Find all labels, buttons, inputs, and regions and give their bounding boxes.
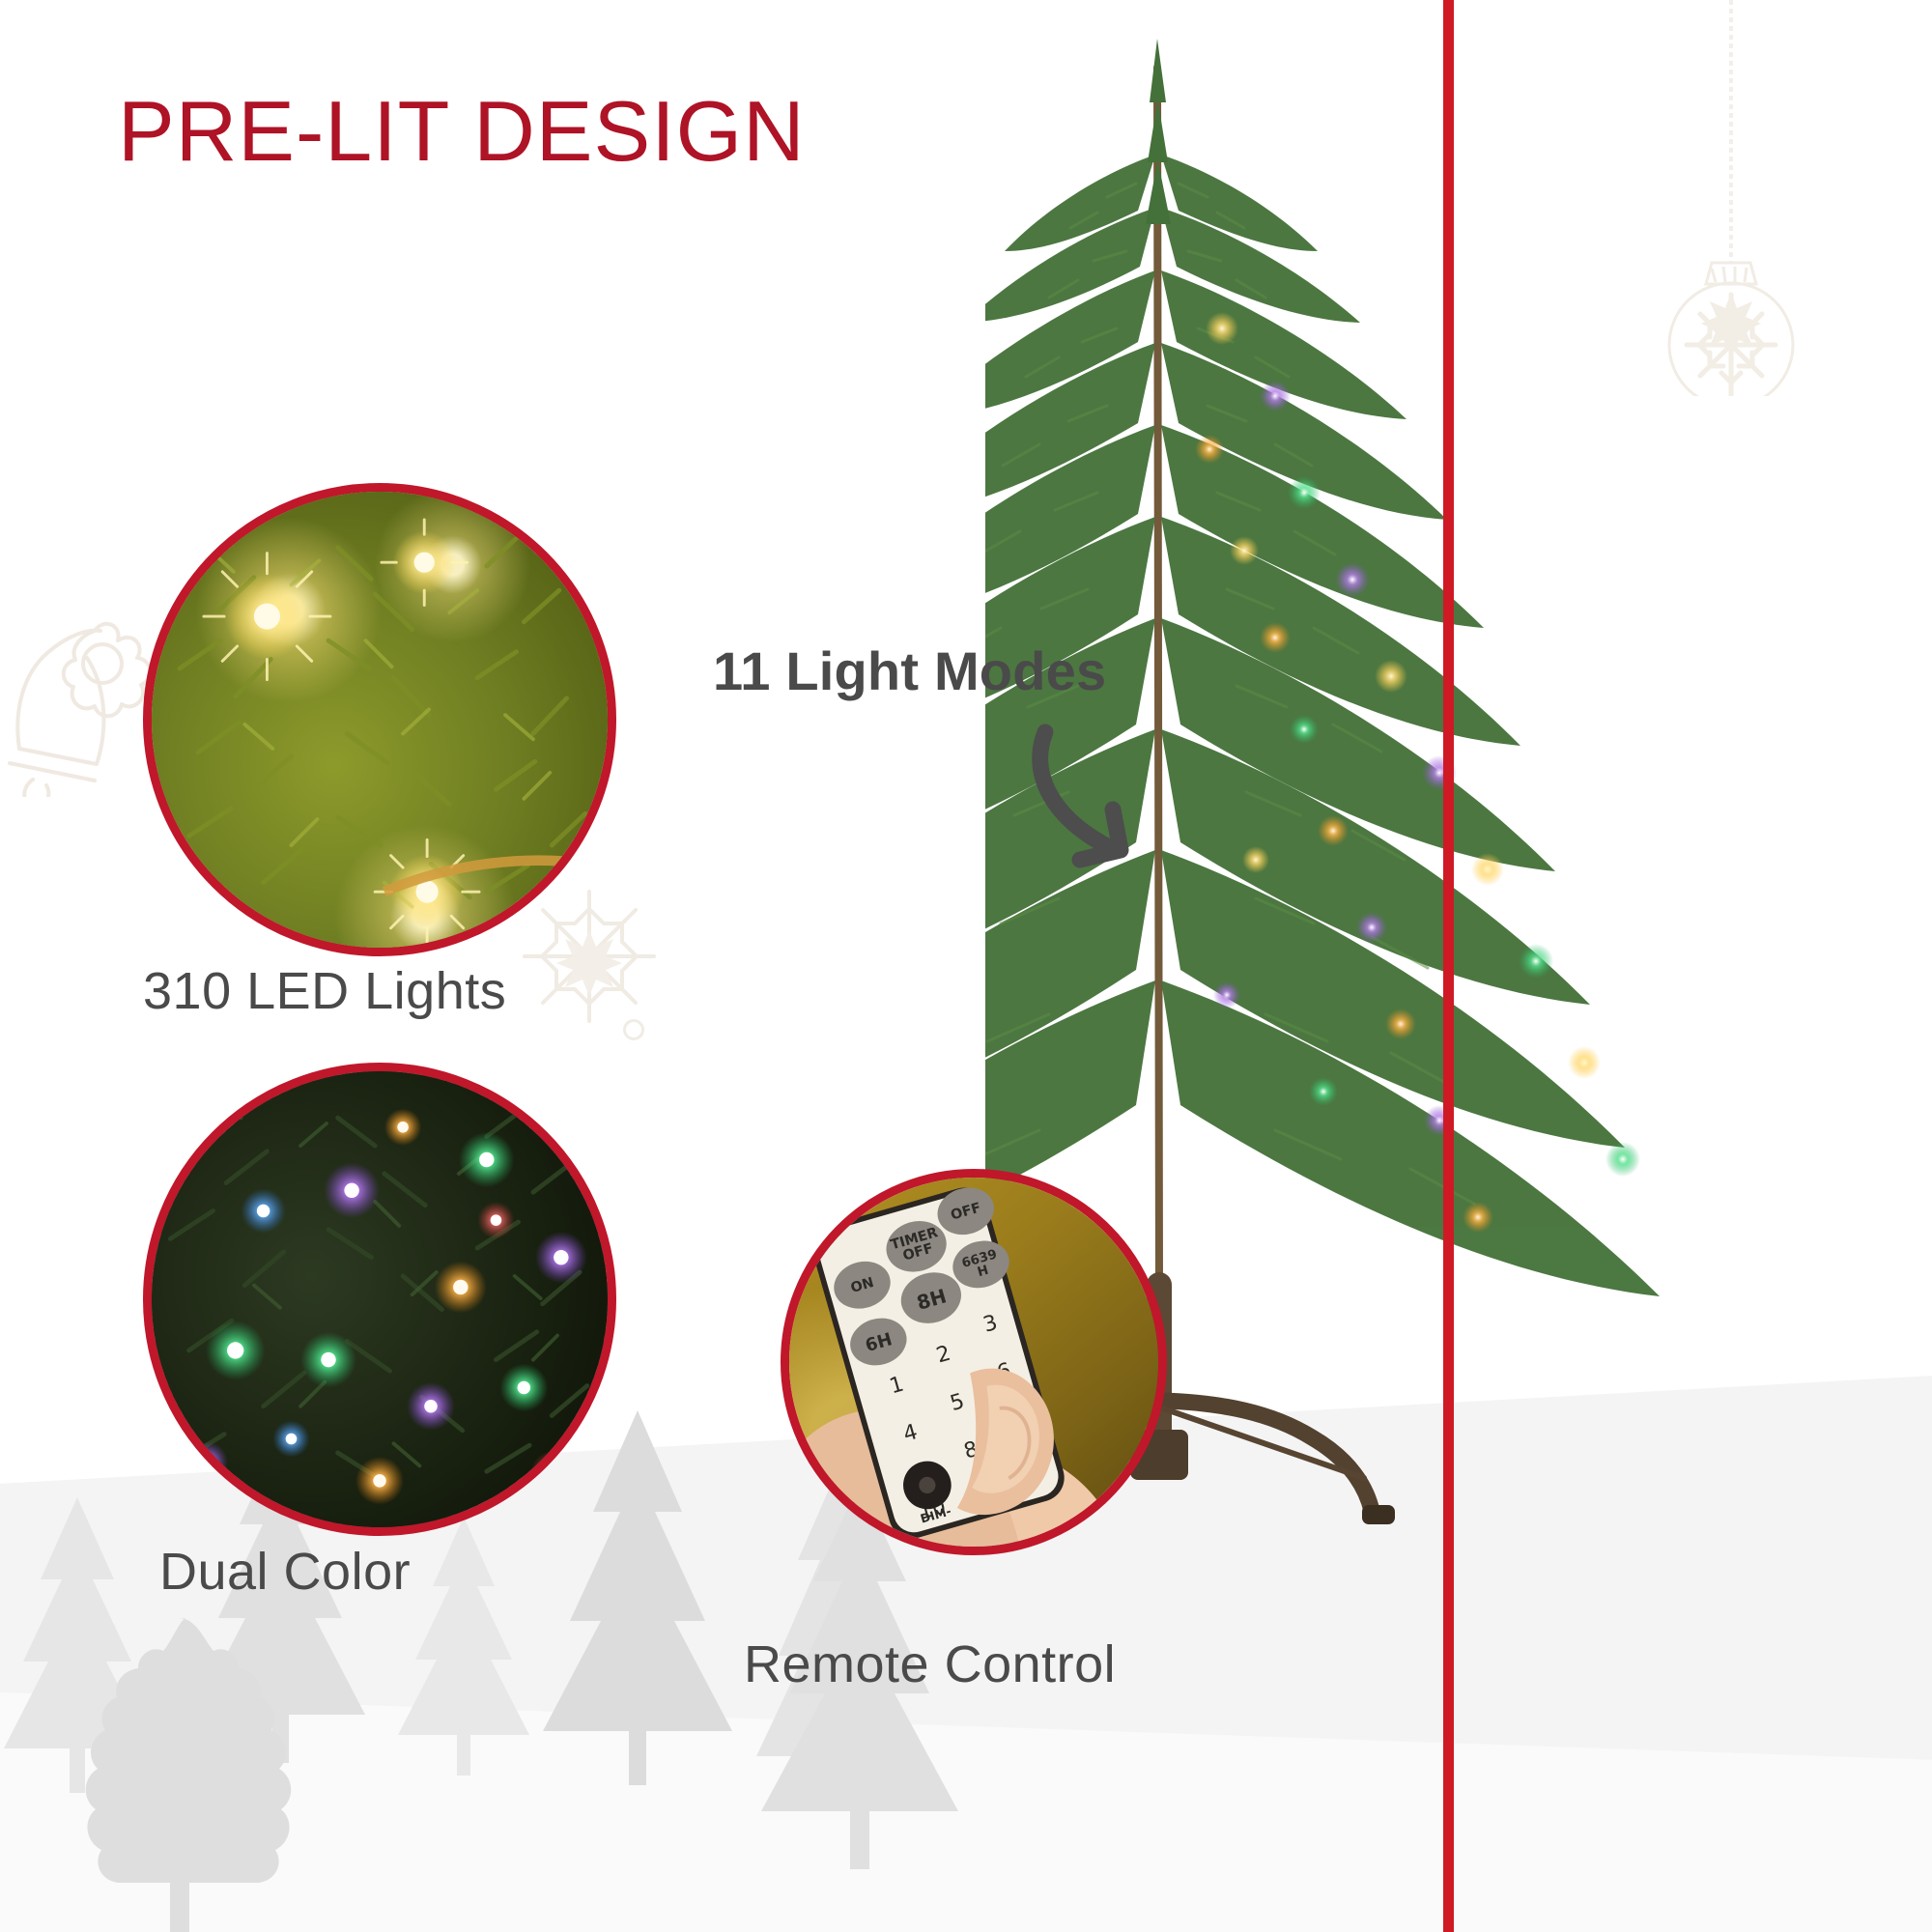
- caption-led-lights: 310 LED Lights: [143, 961, 506, 1021]
- height-measure-line: [1443, 0, 1454, 1932]
- dual-color-photo: [152, 1071, 608, 1527]
- curved-arrow-icon: [1024, 715, 1246, 879]
- light-modes-callout: 11 Light Modes: [713, 639, 1106, 702]
- remote-control-photo: ON TIMER OFF OFF 6H 8H 6639 H 1 2 3: [789, 1178, 1158, 1547]
- product-feature-graphic: PRE-LIT DESIGN: [0, 0, 1932, 1932]
- feature-circle-remote-control: ON TIMER OFF OFF 6H 8H 6639 H 1 2 3: [781, 1169, 1167, 1555]
- caption-remote-control: Remote Control: [744, 1634, 1116, 1694]
- feature-circle-dual-color: [143, 1063, 616, 1536]
- remote-btn-on: ON: [0, 0, 1, 1]
- led-lights-photo: [152, 492, 608, 948]
- caption-dual-color: Dual Color: [159, 1542, 411, 1602]
- page-title: PRE-LIT DESIGN: [118, 89, 806, 174]
- feature-circle-led-lights: [143, 483, 616, 956]
- decor-dot-icon: [623, 1019, 644, 1040]
